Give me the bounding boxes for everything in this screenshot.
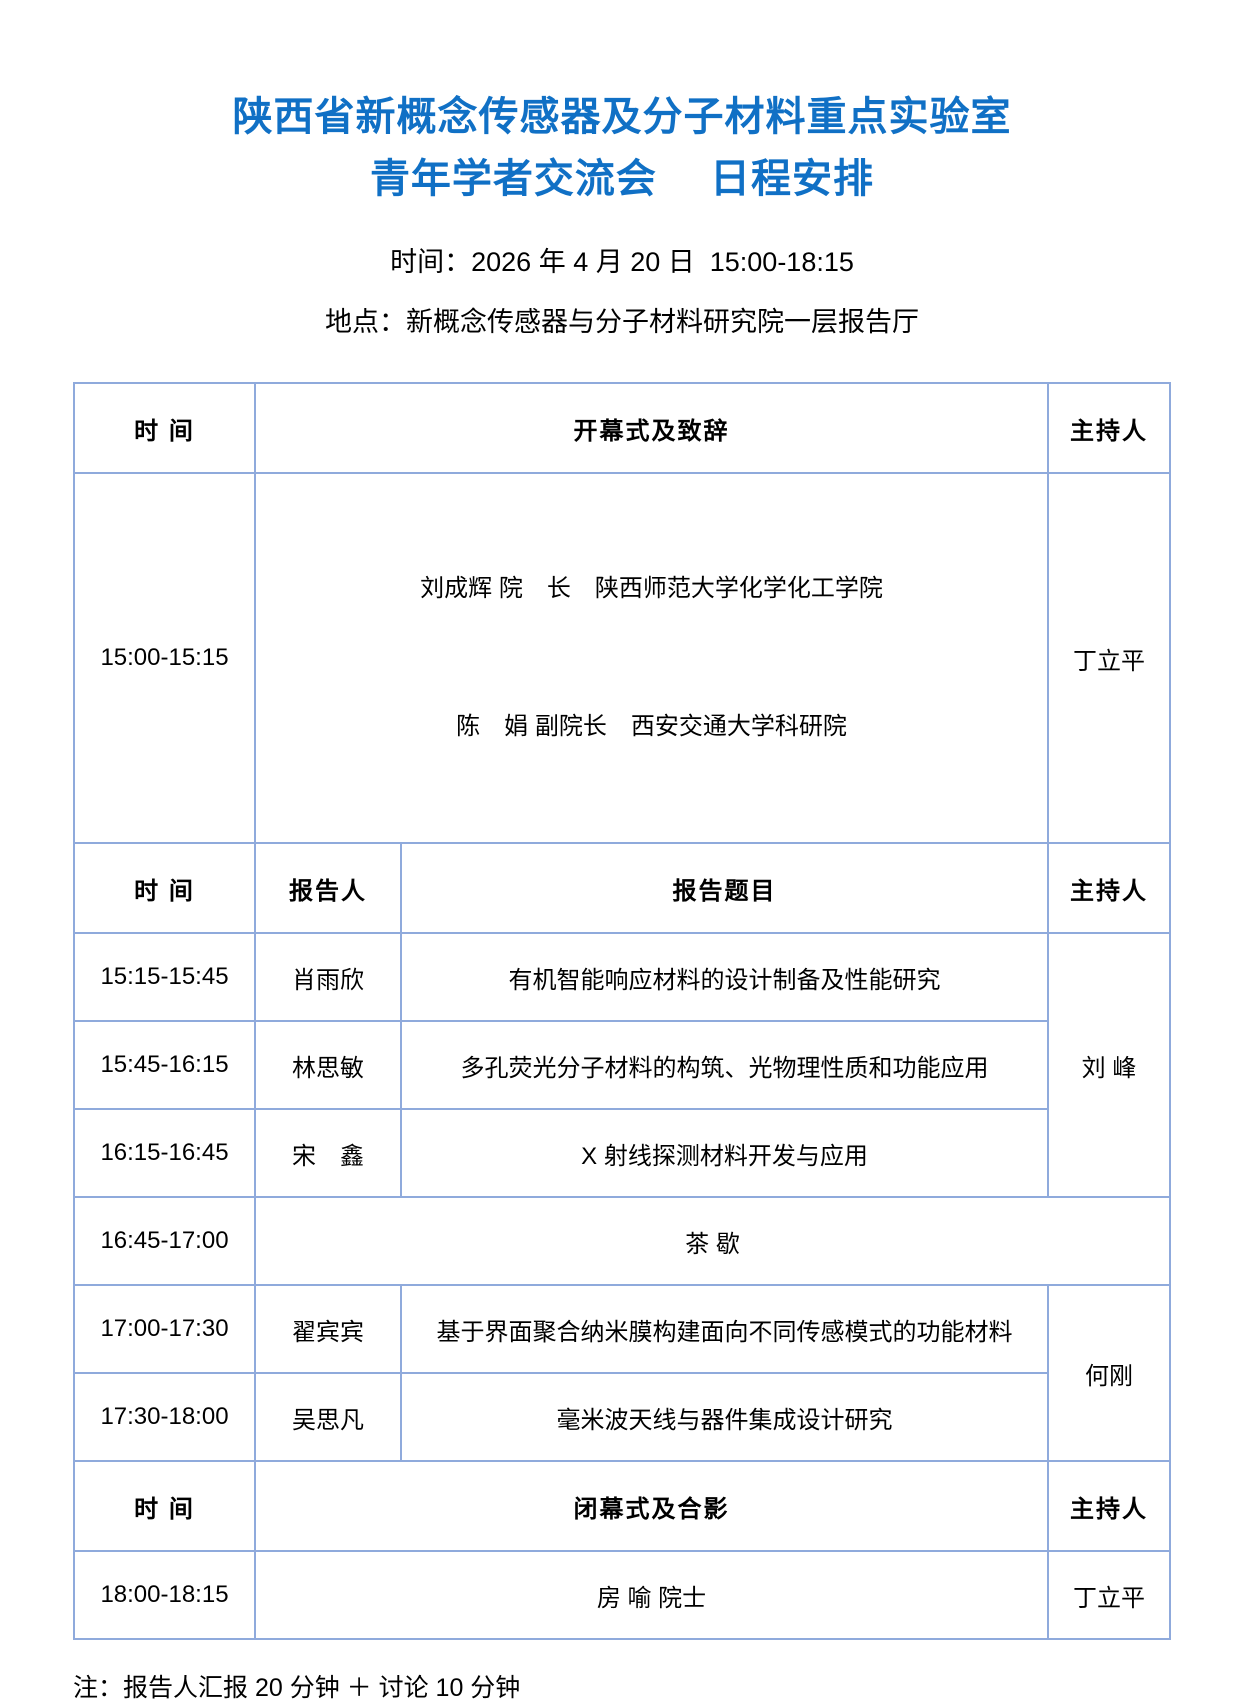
cell-talk-title: X 射线探测材料开发与应用 <box>401 1109 1048 1197</box>
table-row: 15:15-15:45 肖雨欣 有机智能响应材料的设计制备及性能研究 刘 峰 <box>74 933 1170 1021</box>
agenda-table-wrapper: 时 间 开幕式及致辞 主持人 15:00-15:15 刘成辉 院 长 陕西师范大… <box>73 382 1169 1640</box>
header-opening-ceremony: 开幕式及致辞 <box>255 383 1048 473</box>
table-row: 17:30-18:00 吴思凡 毫米波天线与器件集成设计研究 <box>74 1373 1170 1461</box>
event-meta: 时间：2026 年 4 月 20 日 15:00-18:15 地点：新概念传感器… <box>0 232 1244 352</box>
table-row-header-talks: 时 间 报告人 报告题目 主持人 <box>74 843 1170 933</box>
cell-closing-content: 房 喻 院士 <box>255 1551 1048 1639</box>
cell-time-closing: 18:00-18:15 <box>74 1551 255 1639</box>
agenda-table: 时 间 开幕式及致辞 主持人 15:00-15:15 刘成辉 院 长 陕西师范大… <box>73 382 1171 1640</box>
opening-speaker-1: 刘成辉 院 长 陕西师范大学化学化工学院 <box>262 566 1041 612</box>
cell-talk-title: 多孔荧光分子材料的构筑、光物理性质和功能应用 <box>401 1021 1048 1109</box>
cell-host-session-1: 刘 峰 <box>1048 933 1170 1197</box>
page-title: 陕西省新概念传感器及分子材料重点实验室 青年学者交流会 日程安排 <box>0 0 1244 210</box>
header-time-2: 时 间 <box>74 843 255 933</box>
cell-host-opening: 丁立平 <box>1048 473 1170 843</box>
header-talk-title: 报告题目 <box>401 843 1048 933</box>
header-time-3: 时 间 <box>74 1461 255 1551</box>
event-venue: 地点：新概念传感器与分子材料研究院一层报告厅 <box>0 292 1244 352</box>
cell-time: 15:45-16:15 <box>74 1021 255 1109</box>
cell-time-break: 16:45-17:00 <box>74 1197 255 1285</box>
cell-speaker: 吴思凡 <box>255 1373 401 1461</box>
header-host-2: 主持人 <box>1048 843 1170 933</box>
cell-talk-title: 有机智能响应材料的设计制备及性能研究 <box>401 933 1048 1021</box>
cell-time: 16:15-16:45 <box>74 1109 255 1197</box>
header-host-1: 主持人 <box>1048 383 1170 473</box>
footnote: 注：报告人汇报 20 分钟 ＋ 讨论 10 分钟 <box>73 1668 1244 1704</box>
cell-speaker: 林思敏 <box>255 1021 401 1109</box>
cell-time: 17:30-18:00 <box>74 1373 255 1461</box>
table-row: 16:15-16:45 宋 鑫 X 射线探测材料开发与应用 <box>74 1109 1170 1197</box>
cell-host-session-2: 何刚 <box>1048 1285 1170 1461</box>
header-host-3: 主持人 <box>1048 1461 1170 1551</box>
table-row-closing: 18:00-18:15 房 喻 院士 丁立平 <box>74 1551 1170 1639</box>
opening-speaker-2: 陈 娟 副院长 西安交通大学科研院 <box>262 704 1041 750</box>
cell-time: 17:00-17:30 <box>74 1285 255 1373</box>
cell-time-opening: 15:00-15:15 <box>74 473 255 843</box>
table-row: 17:00-17:30 翟宾宾 基于界面聚合纳米膜构建面向不同传感模式的功能材料… <box>74 1285 1170 1373</box>
header-closing-ceremony: 闭幕式及合影 <box>255 1461 1048 1551</box>
table-row-opening: 15:00-15:15 刘成辉 院 长 陕西师范大学化学化工学院 陈 娟 副院长… <box>74 473 1170 843</box>
cell-opening-content: 刘成辉 院 长 陕西师范大学化学化工学院 陈 娟 副院长 西安交通大学科研院 <box>255 473 1048 843</box>
cell-talk-title: 毫米波天线与器件集成设计研究 <box>401 1373 1048 1461</box>
title-line-2: 青年学者交流会 日程安排 <box>0 148 1244 210</box>
cell-host-closing: 丁立平 <box>1048 1551 1170 1639</box>
cell-speaker: 宋 鑫 <box>255 1109 401 1197</box>
table-row-header-closing: 时 间 闭幕式及合影 主持人 <box>74 1461 1170 1551</box>
agenda-page: 陕西省新概念传感器及分子材料重点实验室 青年学者交流会 日程安排 时间：2026… <box>0 0 1244 1554</box>
cell-speaker: 翟宾宾 <box>255 1285 401 1373</box>
event-time: 时间：2026 年 4 月 20 日 15:00-18:15 <box>0 232 1244 292</box>
cell-speaker: 肖雨欣 <box>255 933 401 1021</box>
table-row-break: 16:45-17:00 茶 歇 <box>74 1197 1170 1285</box>
title-line-1: 陕西省新概念传感器及分子材料重点实验室 <box>0 86 1244 148</box>
cell-time: 15:15-15:45 <box>74 933 255 1021</box>
cell-break-label: 茶 歇 <box>255 1197 1170 1285</box>
cell-talk-title: 基于界面聚合纳米膜构建面向不同传感模式的功能材料 <box>401 1285 1048 1373</box>
table-row: 15:45-16:15 林思敏 多孔荧光分子材料的构筑、光物理性质和功能应用 <box>74 1021 1170 1109</box>
header-speaker: 报告人 <box>255 843 401 933</box>
table-row-header-opening: 时 间 开幕式及致辞 主持人 <box>74 383 1170 473</box>
header-time-1: 时 间 <box>74 383 255 473</box>
